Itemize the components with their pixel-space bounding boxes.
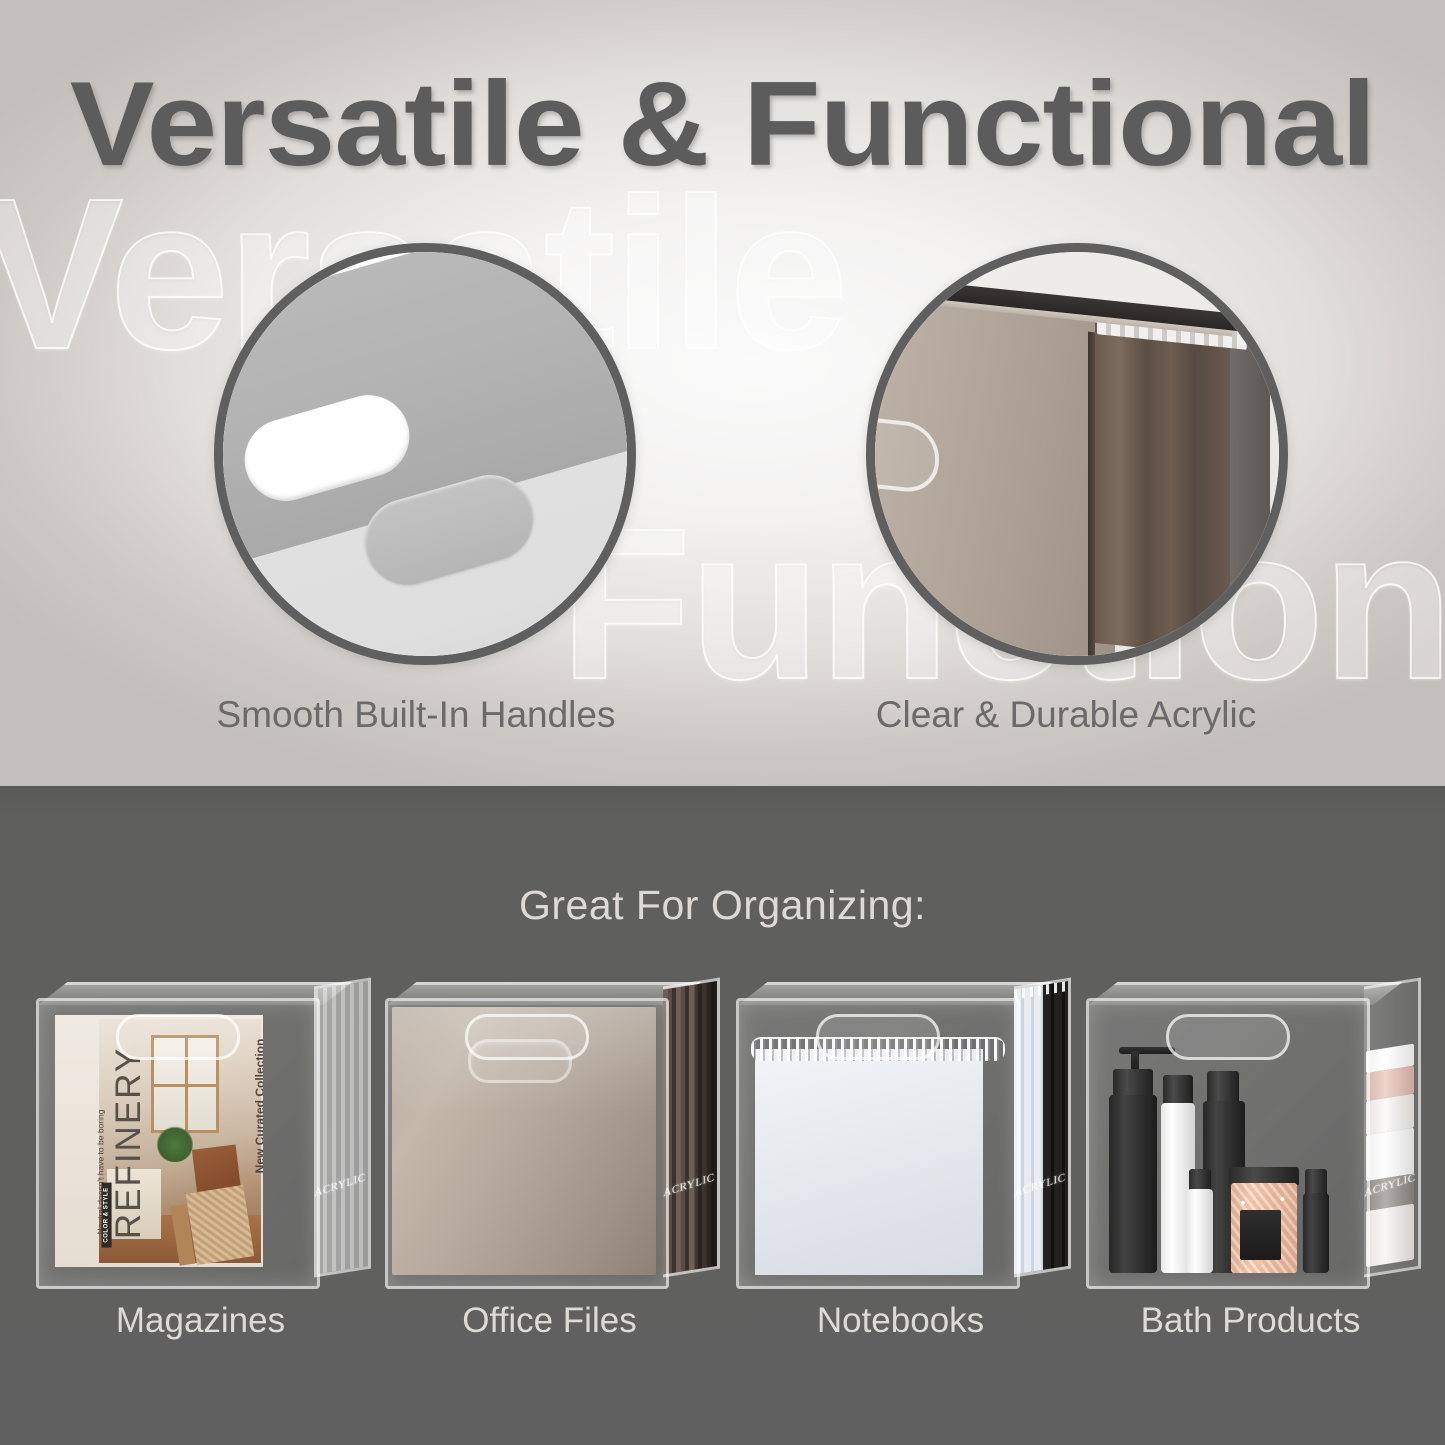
bin-notebooks[interactable]: CLASSIC ACRYLIC Notebooks [728,976,1073,1291]
stacked-jar-6 [1366,1204,1414,1268]
bin-side-face: CLASSIC ACRYLIC [1014,977,1071,1277]
small-white-bottle-cap [1189,1169,1211,1191]
narrow-black-bottle-body [1303,1193,1329,1273]
bin-side-face: CLASSIC ACRYLIC [314,977,371,1277]
bin-handle-cutout [1166,1014,1290,1060]
bin-office-files[interactable]: CLASSIC ACRYLIC Office Files [377,976,722,1291]
photo-chair-back [186,1185,255,1265]
organizing-section: Great For Organizing: CLASSIC ACRYLIC [0,786,1445,1445]
photo-plant [157,1124,193,1162]
pump-nozzle [1119,1047,1175,1054]
handle-closeup-illustration [223,252,627,656]
bin-handle-cutout [465,1014,589,1060]
acrylic-edge [1088,332,1095,663]
magazine-headline: New Curated Collection [253,1021,263,1191]
notebook-black-covers [1043,981,1068,1270]
salt-jar-label [1240,1210,1281,1260]
product-infographic: Versatile Function Versatile & Functiona… [0,0,1445,1445]
feature-circle-handles [214,243,636,665]
white-bottle-cap [1163,1075,1193,1105]
acrylic-closeup-illustration [875,252,1279,656]
bin-gallery: CLASSIC ACRYLIC REFINERY [0,976,1445,1296]
pump-bottle-body [1109,1095,1157,1273]
magazine-stack-edges [314,981,368,1275]
file-folder-shadow [695,981,717,1269]
bin-label-notebooks: Notebooks [708,1301,1093,1341]
small-white-bottle-body [1187,1189,1213,1273]
magazine-masthead: REFINERY [109,1033,149,1253]
bin-side-face: CLASSIC ACRYLIC [663,977,720,1277]
pump-collar [1113,1069,1153,1097]
bin-handle-cutout [116,1014,240,1060]
feature-caption-handles: Smooth Built-In Handles [66,694,766,736]
notebook-front-cover [755,1049,983,1275]
bin-label-magazines: Magazines [8,1301,393,1341]
bin-label-bath-products: Bath Products [1058,1301,1443,1341]
folder-stack-front [1095,323,1230,657]
feature-caption-acrylic: Clear & Durable Acrylic [716,694,1416,736]
feature-circle-acrylic [866,243,1288,665]
black-bottle-cap [1207,1071,1239,1103]
bin-handle-cutout [816,1014,940,1060]
salt-jar [1231,1183,1297,1273]
bin-side-face: CLASSIC ACRYLIC [1364,977,1421,1277]
bin-bath-products[interactable]: CLASSIC ACRYLIC [1078,976,1423,1291]
page-title: Versatile & Functional [0,55,1445,193]
narrow-black-bottle-cap [1305,1169,1327,1195]
bin-label-office-files: Office Files [357,1301,742,1341]
magazine-badge: COLOR & STYLE [102,1182,112,1247]
organizing-heading: Great For Organizing: [0,882,1445,929]
bin-magazines[interactable]: CLASSIC ACRYLIC REFINERY [28,976,373,1291]
features-section: Versatile Function Versatile & Functiona… [0,0,1445,786]
